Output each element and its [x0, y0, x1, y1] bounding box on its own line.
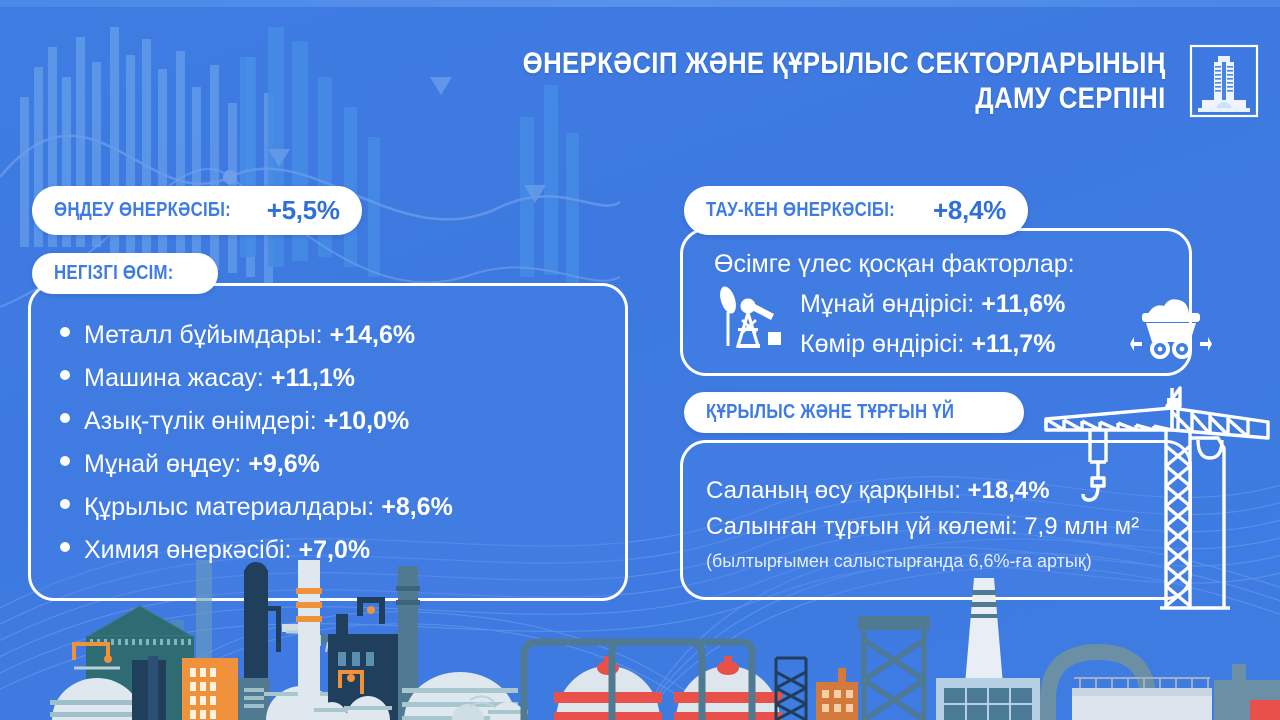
construction-growth-value: +18,4%	[968, 477, 1050, 504]
bullet-icon	[60, 370, 70, 380]
manufacturing-value: +5,5%	[267, 195, 340, 226]
government-building-icon	[1188, 42, 1260, 120]
construction-housing-value: 7,9 млн м²	[1024, 513, 1139, 540]
manufacturing-label: ӨҢДЕУ ӨНЕРКӘСІБІ:	[54, 199, 231, 222]
mining-row-oil-value: +11,6%	[981, 290, 1065, 318]
list-item-label: Металл бұйымдары:	[84, 321, 323, 349]
bullet-icon	[60, 542, 70, 552]
list-item-value: +11,1%	[271, 364, 355, 392]
infographic-root: ӨНЕРКӘСІП ЖӘНЕ ҚҰРЫЛЫС СЕКТОРЛАРЫНЫҢ ДАМ…	[0, 0, 1280, 720]
mining-row-oil-label: Мұнай өндірісі:	[800, 290, 974, 318]
page-title-line-1: ӨНЕРКӘСІП ЖӘНЕ ҚҰРЫЛЫС СЕКТОРЛАРЫНЫҢ	[523, 46, 1166, 81]
mining-row-oil: Мұнай өндірісі: +11,6%	[800, 286, 1065, 322]
bullet-icon	[60, 499, 70, 509]
page-title-line-2: ДАМУ СЕРПІНІ	[523, 81, 1166, 116]
growth-list: Металл бұйымдары:+14,6% Машина жасау:+11…	[60, 316, 620, 569]
construction-growth-label: Саланың өсу қарқыны:	[706, 477, 961, 504]
construction-headline-pill: ҚҰРЫЛЫС ЖӘНЕ ТҰРҒЫН ҮЙ	[684, 392, 1024, 433]
main-growth-pill: НЕГІЗГІ ӨСІМ:	[32, 253, 218, 294]
list-item-label: Мұнай өңдеу:	[84, 450, 241, 478]
construction-housing-line: Салынған тұрғын үй көлемі: 7,9 млн м²	[706, 510, 1139, 544]
construction-lines: Саланың өсу қарқыны: +18,4% Салынған тұр…	[706, 474, 1139, 575]
list-item: Химия өнеркәсібі:+7,0%	[60, 531, 620, 569]
mining-row-coal-value: +11,7%	[971, 330, 1055, 358]
list-item: Мұнай өңдеу:+9,6%	[60, 445, 620, 483]
list-item-value: +8,6%	[381, 493, 453, 521]
list-item: Құрылыс материалдары:+8,6%	[60, 488, 620, 526]
construction-note: (былтырғымен салыстырғанда 6,6%-ға артық…	[706, 548, 1139, 575]
list-item-value: +9,6%	[248, 450, 320, 478]
mining-rows: Мұнай өндірісі: +11,6% Көмір өндірісі: +…	[800, 286, 1065, 363]
mining-heading: Өсімге үлес қосқан факторлар:	[714, 250, 1075, 279]
bullet-icon	[60, 456, 70, 466]
coal-cart-icon	[1126, 292, 1218, 362]
bullet-icon	[60, 327, 70, 337]
list-item: Азық-түлік өнімдері:+10,0%	[60, 402, 620, 440]
mining-row-coal-label: Көмір өндірісі:	[800, 330, 964, 358]
list-item-value: +10,0%	[324, 407, 410, 435]
page-title: ӨНЕРКӘСІП ЖӘНЕ ҚҰРЫЛЫС СЕКТОРЛАРЫНЫҢ ДАМ…	[523, 46, 1166, 117]
list-item-value: +7,0%	[299, 536, 371, 564]
main-growth-label: НЕГІЗГІ ӨСІМ:	[54, 262, 174, 285]
list-item-label: Азық-түлік өнімдері:	[84, 407, 317, 435]
list-item: Металл бұйымдары:+14,6%	[60, 316, 620, 354]
mining-headline-pill: ТАУ-КЕН ӨНЕРКӘСІБІ: +8,4%	[684, 186, 1028, 235]
top-accent-strip	[0, 0, 1280, 7]
bullet-icon	[60, 413, 70, 423]
mining-value: +8,4%	[933, 195, 1006, 226]
construction-label: ҚҰРЫЛЫС ЖӘНЕ ТҰРҒЫН ҮЙ	[706, 401, 954, 424]
manufacturing-headline-pill: ӨҢДЕУ ӨНЕРКӘСІБІ: +5,5%	[32, 186, 362, 235]
list-item-label: Машина жасау:	[84, 364, 264, 392]
list-item-value: +14,6%	[330, 321, 416, 349]
list-item: Машина жасау:+11,1%	[60, 359, 620, 397]
construction-growth-line: Саланың өсу қарқыны: +18,4%	[706, 474, 1139, 508]
mining-row-coal: Көмір өндірісі: +11,7%	[800, 326, 1065, 362]
oil-pumpjack-icon	[712, 280, 786, 354]
construction-housing-label: Салынған тұрғын үй көлемі:	[706, 513, 1018, 540]
list-item-label: Құрылыс материалдары:	[84, 493, 374, 521]
list-item-label: Химия өнеркәсібі:	[84, 536, 292, 564]
mining-label: ТАУ-КЕН ӨНЕРКӘСІБІ:	[706, 199, 895, 222]
header: ӨНЕРКӘСІП ЖӘНЕ ҚҰРЫЛЫС СЕКТОРЛАРЫНЫҢ ДАМ…	[370, 22, 1260, 140]
